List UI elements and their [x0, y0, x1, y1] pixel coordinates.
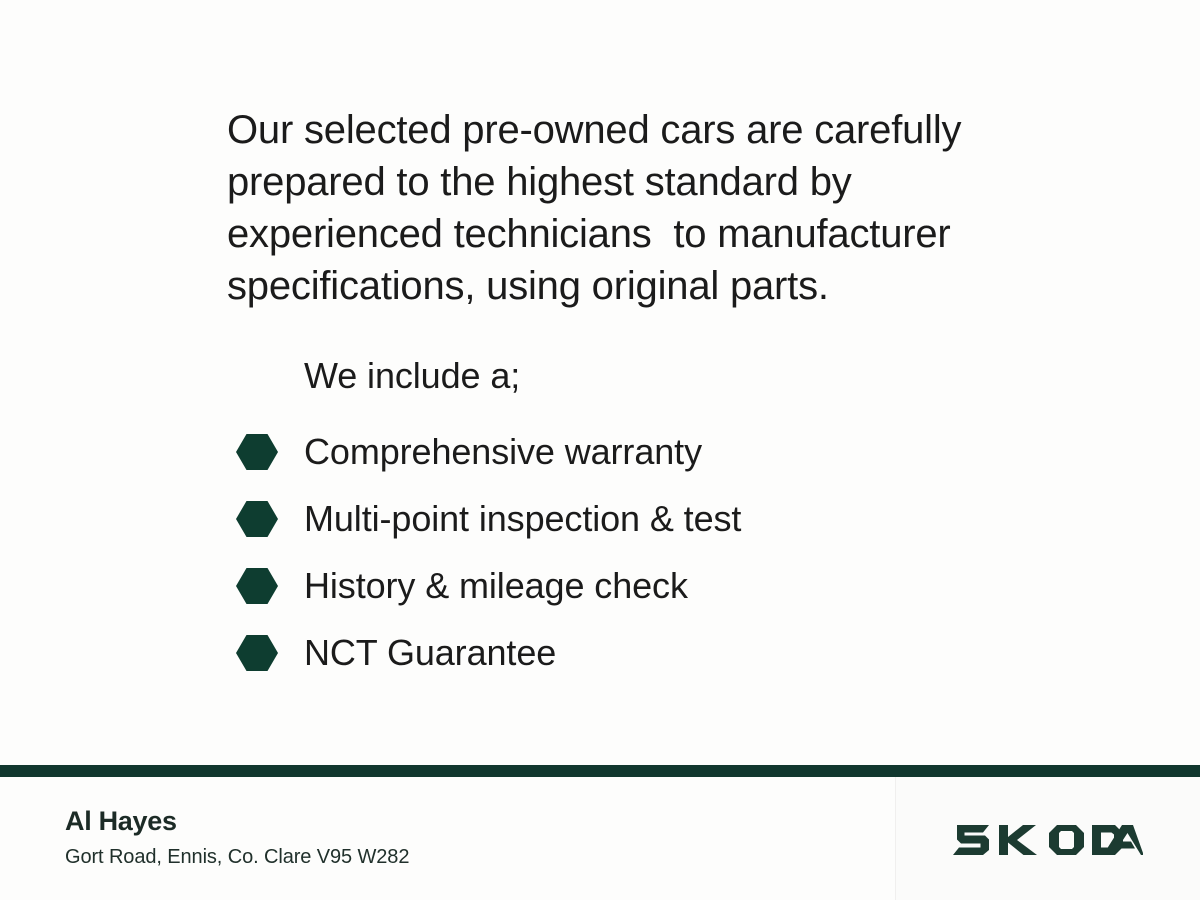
hexagon-bullet-icon: [236, 632, 278, 674]
hexagon-bullet-icon: [236, 431, 278, 473]
benefit-label: Multi-point inspection & test: [304, 498, 741, 540]
footer-divider-bar: [0, 765, 1200, 777]
footer: Al Hayes Gort Road, Ennis, Co. Clare V95…: [0, 777, 1200, 900]
hexagon-bullet-icon: [236, 565, 278, 607]
dealer-address: Gort Road, Ennis, Co. Clare V95 W282: [65, 844, 785, 870]
list-item: Multi-point inspection & test: [236, 485, 1036, 552]
promotional-slide: Our selected pre-owned cars are carefull…: [0, 0, 1200, 900]
main-content-area: Our selected pre-owned cars are carefull…: [0, 0, 1200, 765]
list-item: Comprehensive warranty: [236, 418, 1036, 485]
headline-line-3: experienced technicians to manufacturer: [227, 208, 1017, 260]
skoda-wordmark-logo: [953, 819, 1143, 859]
headline-line-2: prepared to the highest standard by: [227, 156, 1017, 208]
hexagon-bullet-icon: [236, 498, 278, 540]
benefit-label: NCT Guarantee: [304, 632, 556, 674]
dealer-info-block: Al Hayes Gort Road, Ennis, Co. Clare V95…: [65, 805, 785, 870]
dealer-name: Al Hayes: [65, 805, 785, 837]
list-item: NCT Guarantee: [236, 619, 1036, 686]
headline-line-4: specifications, using original parts.: [227, 260, 1017, 312]
list-item: History & mileage check: [236, 552, 1036, 619]
benefits-list: Comprehensive warranty Multi-point inspe…: [236, 418, 1036, 686]
headline-paragraph: Our selected pre-owned cars are carefull…: [227, 104, 1017, 312]
benefit-label: History & mileage check: [304, 565, 688, 607]
brand-logo-panel: [895, 777, 1200, 900]
headline-line-1: Our selected pre-owned cars are carefull…: [227, 104, 1017, 156]
benefit-label: Comprehensive warranty: [304, 431, 702, 473]
include-lead-in-text: We include a;: [304, 353, 520, 399]
